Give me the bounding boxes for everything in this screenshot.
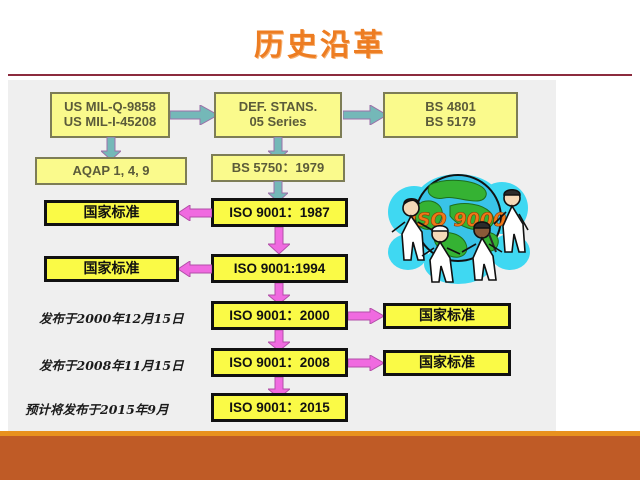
national-right-1-label: 国家标准 xyxy=(419,308,475,324)
box-national-standard-right-2[interactable]: 国家标准 xyxy=(383,350,511,376)
annotation-released-2008: 发布于2008年11月15日 xyxy=(39,355,184,374)
national-right-2-label: 国家标准 xyxy=(419,355,475,371)
svg-text:ISO 9000: ISO 9000 xyxy=(410,209,506,231)
page-title: 历史沿革 xyxy=(0,20,640,64)
arrow-iso1987-to-national-left-1 xyxy=(178,205,212,221)
box-aqap[interactable]: AQAP 1, 4, 9 xyxy=(35,157,187,185)
box-us-mil-line2: US MIL-I-45208 xyxy=(64,115,156,130)
box-iso-9001-1994[interactable]: ISO 9001:1994 xyxy=(211,254,348,283)
box-iso-2008-label: ISO 9001：2008 xyxy=(229,355,330,371)
box-bs-5750-label: BS 5750：1979 xyxy=(232,161,325,176)
box-bs-4801-line1: BS 4801 xyxy=(425,100,476,115)
box-iso-9001-2008[interactable]: ISO 9001：2008 xyxy=(211,348,348,377)
box-def-stans[interactable]: DEF. STANS. 05 Series xyxy=(214,92,342,138)
box-us-mil-line1: US MIL-Q-9858 xyxy=(64,100,156,115)
bottom-bar xyxy=(0,431,640,480)
box-bs-4801-5179[interactable]: BS 4801 BS 5179 xyxy=(383,92,518,138)
box-iso-9001-2015[interactable]: ISO 9001：2015 xyxy=(211,393,348,422)
national-left-2-label: 国家标准 xyxy=(84,261,140,277)
box-iso-2015-label: ISO 9001：2015 xyxy=(229,400,330,416)
box-iso-1994-label: ISO 9001:1994 xyxy=(234,261,326,277)
arrow-usmil-to-defstans xyxy=(170,105,220,125)
box-def-stans-line2: 05 Series xyxy=(249,115,306,130)
annotation-planned-2015: 预计将发布于2015年9月 xyxy=(25,399,169,418)
box-us-mil[interactable]: US MIL-Q-9858 US MIL-I-45208 xyxy=(50,92,170,138)
arrow-iso1987-to-iso1994 xyxy=(268,227,290,255)
annotation-released-2000: 发布于2000年12月15日 xyxy=(39,308,184,327)
title-divider xyxy=(8,74,632,76)
box-iso-9001-2000[interactable]: ISO 9001：2000 xyxy=(211,301,348,330)
national-left-1-label: 国家标准 xyxy=(84,205,140,221)
box-national-standard-left-1[interactable]: 国家标准 xyxy=(44,200,179,226)
box-national-standard-left-2[interactable]: 国家标准 xyxy=(44,256,179,282)
box-bs-5179-line2: BS 5179 xyxy=(425,115,476,130)
slide-root: 历史沿革 US MIL-Q-9858 US MIL-I-45208 DEF. S… xyxy=(0,0,640,480)
box-iso-2000-label: ISO 9001：2000 xyxy=(229,308,330,324)
box-aqap-label: AQAP 1, 4, 9 xyxy=(72,164,149,179)
arrow-iso1994-to-national-left-2 xyxy=(178,261,212,277)
arrow-iso2008-to-national-right-2 xyxy=(348,355,384,371)
box-iso-9001-1987[interactable]: ISO 9001：1987 xyxy=(211,198,348,227)
box-bs-5750[interactable]: BS 5750：1979 xyxy=(211,154,345,182)
box-iso-1987-label: ISO 9001：1987 xyxy=(229,205,330,221)
arrow-iso2000-to-national-right-1 xyxy=(348,308,384,324)
box-def-stans-line1: DEF. STANS. xyxy=(239,100,318,115)
iso-9000-globe-clipart: ISO 9000 xyxy=(378,168,538,286)
box-national-standard-right-1[interactable]: 国家标准 xyxy=(383,303,511,329)
